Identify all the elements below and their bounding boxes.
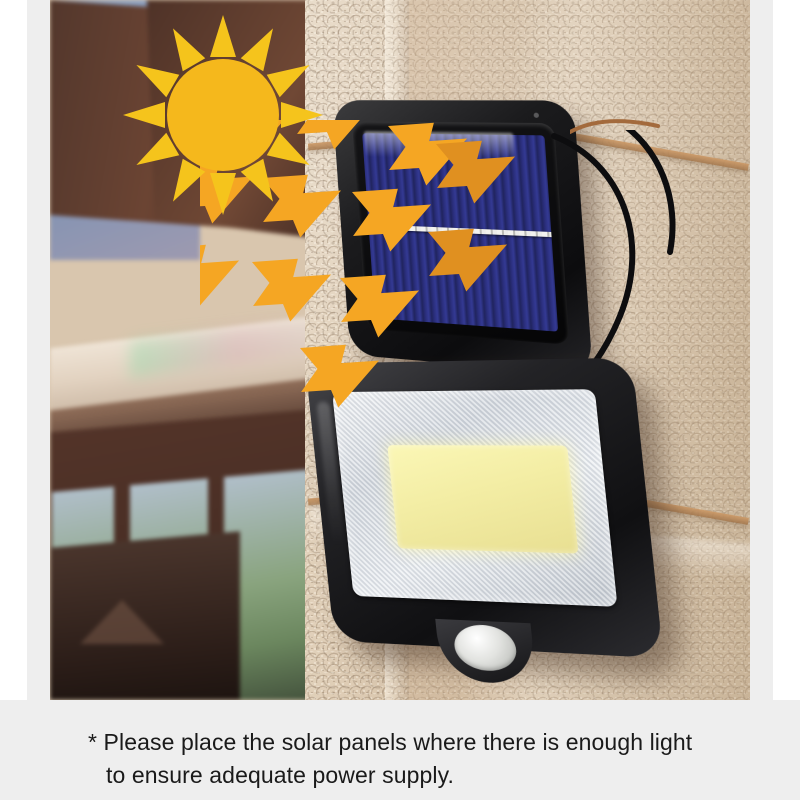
- background-house-window: [50, 0, 335, 700]
- right-gutter: [773, 0, 800, 800]
- product-instruction-image: * Please place the solar panels where th…: [0, 0, 800, 800]
- caption-block: * Please place the solar panels where th…: [0, 700, 800, 800]
- gable-reflection: [80, 600, 164, 644]
- solar-cells: [362, 133, 558, 332]
- solar-panel-bezel: [352, 121, 570, 344]
- left-gutter: [0, 0, 27, 800]
- solar-panel-screw: [534, 113, 540, 118]
- pir-motion-sensor: [453, 624, 519, 673]
- led-flood-light: [305, 358, 663, 659]
- cob-led-panel: [388, 445, 579, 553]
- caption-line-2: to ensure adequate power supply.: [88, 759, 800, 792]
- caption-line-1: * Please place the solar panels where th…: [88, 726, 800, 759]
- product-photo: [50, 0, 750, 700]
- solar-panel: [332, 100, 593, 375]
- solar-busbar: [368, 224, 551, 237]
- lamp-reflector: [332, 389, 617, 607]
- solar-panel-glare: [364, 131, 515, 159]
